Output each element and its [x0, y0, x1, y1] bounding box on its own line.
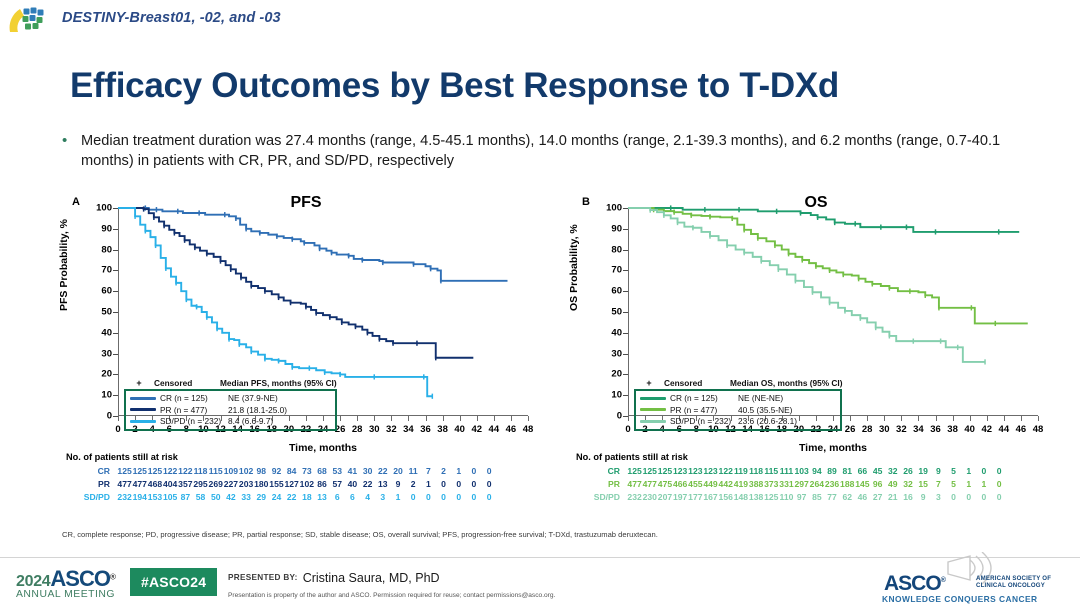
legend-group-name: CR (n = 125) — [670, 393, 738, 403]
risk-cell: 13 — [375, 479, 390, 489]
risk-cell: 16 — [900, 492, 915, 502]
x-tick-mark — [528, 416, 529, 421]
y-tick-label: 50 — [101, 307, 112, 318]
presenter-name: Cristina Saura, MD, PhD — [303, 571, 440, 585]
x-tick-label: 48 — [1033, 424, 1044, 435]
legend-row: CR (n = 125)NE (37.9-NE) — [128, 393, 331, 405]
legend-color-swatch — [130, 420, 156, 423]
society-name: AMERICAN SOCIETY OF CLINICAL ONCOLOGY — [976, 575, 1051, 590]
risk-cell: 0 — [406, 492, 421, 502]
x-tick-label: 32 — [386, 424, 397, 435]
risk-cell: 40 — [345, 479, 360, 489]
x-tick-mark — [408, 416, 409, 421]
plot-area: 0102030405060708090100024681012141618202… — [118, 208, 528, 416]
x-tick-label: 44 — [999, 424, 1010, 435]
brand-registered-mark: ® — [941, 577, 945, 584]
x-tick-mark — [901, 416, 902, 421]
y-tick-label: 100 — [96, 203, 112, 214]
risk-cell: 50 — [208, 492, 223, 502]
risk-cell: 42 — [223, 492, 238, 502]
risk-cell: 94 — [809, 466, 824, 476]
risk-row-values: 4774774754664554494424193883733312972642… — [627, 479, 1007, 489]
risk-row-label: PR — [576, 479, 627, 489]
risk-cell: 41 — [345, 466, 360, 476]
risk-cell: 32 — [885, 466, 900, 476]
y-axis-label: PFS Probability, % — [58, 219, 70, 311]
risk-cell: 1 — [390, 492, 405, 502]
risk-cell: 19 — [916, 466, 931, 476]
legend-median-value: 8.4 (6.6-9.7) — [228, 416, 273, 426]
censored-label: Censored — [664, 378, 730, 388]
legend-row: SD/PD (n = 232)8.4 (6.6-9.7) — [128, 416, 331, 428]
legend-row: SD/PD (n = 232)23.6 (20.6-28.1) — [638, 416, 836, 428]
risk-cell: 194 — [132, 492, 147, 502]
risk-cell: 264 — [809, 479, 824, 489]
legend-box: CR (n = 125)NE (NE-NE)PR (n = 477)40.5 (… — [634, 389, 842, 432]
censored-label: Censored — [154, 378, 220, 388]
header-study-label: DESTINY-Breast01, -02, and -03 — [62, 10, 281, 26]
slide-root: DESTINY-Breast01, -02, and -03 Efficacy … — [0, 0, 1080, 608]
risk-table-row: SD/PD23223020719717716715614813812511097… — [576, 490, 1007, 503]
risk-cell: 138 — [749, 492, 764, 502]
risk-cell: 125 — [147, 466, 162, 476]
risk-cell: 66 — [855, 466, 870, 476]
risk-row-values: 1251251251231231231221191181151111039489… — [627, 466, 1007, 476]
risk-cell: 109 — [223, 466, 238, 476]
legend-color-swatch — [130, 408, 156, 411]
risk-cell: 125 — [132, 466, 147, 476]
legend-color-swatch — [640, 408, 666, 411]
risk-cell: 62 — [840, 492, 855, 502]
risk-cell: 156 — [718, 492, 733, 502]
x-tick-label: 46 — [506, 424, 517, 435]
plot-area: 0102030405060708090100024681012141618202… — [628, 208, 1038, 416]
bullet-text: Median treatment duration was 27.4 month… — [81, 131, 1052, 171]
risk-cell: 118 — [749, 466, 764, 476]
x-tick-mark — [1038, 416, 1039, 421]
risk-cell: 145 — [855, 479, 870, 489]
slide-header: DESTINY-Breast01, -02, and -03 — [0, 0, 1080, 40]
risk-row-values: 2322302071971771671561481381251109785776… — [627, 492, 1007, 502]
footer-year: 2024 — [16, 573, 50, 590]
footer-annual-meeting: ANNUAL MEETING — [16, 589, 128, 600]
risk-cell: 297 — [794, 479, 809, 489]
risk-cell: 18 — [299, 492, 314, 502]
asco-fan-logo-icon — [8, 2, 56, 36]
legend-row: PR (n = 477)40.5 (35.5-NE) — [638, 404, 836, 416]
risk-cell: 46 — [855, 492, 870, 502]
y-tick-label: 0 — [617, 411, 622, 422]
x-tick-label: 42 — [471, 424, 482, 435]
risk-row-label: SD/PD — [66, 492, 117, 502]
risk-cell: 0 — [961, 492, 976, 502]
risk-cell: 86 — [314, 479, 329, 489]
risk-cell: 6 — [345, 492, 360, 502]
risk-cell: 97 — [794, 492, 809, 502]
legend-median-value: 40.5 (35.5-NE) — [738, 405, 792, 415]
risk-cell: 111 — [779, 466, 794, 476]
risk-row-label: CR — [576, 466, 627, 476]
y-tick-label: 90 — [101, 223, 112, 234]
risk-cell: 29 — [254, 492, 269, 502]
risk-cell: 102 — [299, 479, 314, 489]
risk-cell: 11 — [406, 466, 421, 476]
x-tick-mark — [918, 416, 919, 421]
risk-cell: 0 — [482, 479, 497, 489]
risk-cell: 0 — [466, 492, 481, 502]
curve-cr — [118, 208, 508, 281]
risk-cell: 102 — [239, 466, 254, 476]
risk-cell: 122 — [163, 466, 178, 476]
x-tick-mark — [357, 416, 358, 421]
x-tick-label: 0 — [625, 424, 630, 435]
risk-cell: 232 — [117, 492, 132, 502]
risk-cell: 0 — [482, 466, 497, 476]
permission-text: Presentation is property of the author a… — [228, 592, 555, 599]
risk-cell: 0 — [992, 492, 1007, 502]
risk-table-row: CR12512512512312312312211911811511110394… — [576, 464, 1007, 477]
risk-cell: 115 — [764, 466, 779, 476]
risk-cell: 92 — [269, 466, 284, 476]
bullet-list: • Median treatment duration was 27.4 mon… — [62, 131, 1052, 171]
risk-cell: 475 — [657, 479, 672, 489]
risk-cell: 122 — [718, 466, 733, 476]
x-tick-label: 30 — [369, 424, 380, 435]
y-tick-label: 80 — [101, 244, 112, 255]
legend-median-header: Median PFS, months (95% CI) — [220, 378, 337, 388]
risk-cell: 103 — [794, 466, 809, 476]
risk-row-label: CR — [66, 466, 117, 476]
x-tick-mark — [970, 416, 971, 421]
risk-cell: 0 — [482, 492, 497, 502]
y-tick-label: 10 — [101, 390, 112, 401]
y-tick-label: 90 — [611, 223, 622, 234]
x-tick-label: 38 — [437, 424, 448, 435]
risk-cell: 33 — [239, 492, 254, 502]
asco-wordmark: ASCO® — [884, 572, 945, 596]
legend-group-name: SD/PD (n = 232) — [160, 416, 228, 426]
legend-color-swatch — [640, 420, 666, 423]
risk-cell: 207 — [657, 492, 672, 502]
y-tick-label: 80 — [611, 244, 622, 255]
risk-cell: 125 — [117, 466, 132, 476]
x-tick-mark — [443, 416, 444, 421]
risk-cell: 0 — [436, 492, 451, 502]
risk-cell: 49 — [885, 479, 900, 489]
x-tick-label: 36 — [930, 424, 941, 435]
y-tick-label: 100 — [606, 203, 622, 214]
risk-cell: 0 — [436, 479, 451, 489]
risk-cell: 180 — [254, 479, 269, 489]
censored-symbol: + — [124, 378, 154, 388]
presented-by-label: PRESENTED BY: — [228, 573, 298, 582]
legend-median-value: 21.8 (18.1-25.0) — [228, 405, 287, 415]
y-tick-label: 10 — [611, 390, 622, 401]
x-tick-mark — [494, 416, 495, 421]
risk-cell: 122 — [178, 466, 193, 476]
risk-cell: 188 — [840, 479, 855, 489]
risk-cell: 77 — [824, 492, 839, 502]
risk-cell: 0 — [992, 466, 1007, 476]
legend-color-swatch — [640, 397, 666, 400]
risk-cell: 373 — [764, 479, 779, 489]
curve-cr — [628, 208, 1019, 232]
risk-cell: 232 — [627, 492, 642, 502]
risk-cell: 89 — [824, 466, 839, 476]
risk-cell: 466 — [673, 479, 688, 489]
risk-cell: 5 — [946, 479, 961, 489]
page-title: Efficacy Outcomes by Best Response to T-… — [70, 66, 1030, 106]
x-tick-label: 30 — [879, 424, 890, 435]
risk-cell: 0 — [976, 492, 991, 502]
x-tick-label: 44 — [489, 424, 500, 435]
risk-cell: 9 — [931, 466, 946, 476]
risk-cell: 153 — [147, 492, 162, 502]
x-tick-label: 32 — [896, 424, 907, 435]
risk-cell: 269 — [208, 479, 223, 489]
x-tick-label: 34 — [913, 424, 924, 435]
risk-cell: 449 — [703, 479, 718, 489]
y-tick-label: 30 — [101, 348, 112, 359]
risk-cell: 167 — [703, 492, 718, 502]
risk-cell: 1 — [421, 479, 436, 489]
x-tick-label: 26 — [845, 424, 856, 435]
risk-cell: 27 — [870, 492, 885, 502]
risk-cell: 110 — [779, 492, 794, 502]
x-tick-label: 46 — [1016, 424, 1027, 435]
x-tick-mark — [340, 416, 341, 421]
y-axis-label: OS Probability, % — [568, 224, 580, 311]
risk-cell: 468 — [147, 479, 162, 489]
x-tick-label: 28 — [862, 424, 873, 435]
x-tick-mark — [1004, 416, 1005, 421]
risk-table-pfs: No. of patients still at riskCR125125125… — [66, 452, 497, 503]
y-tick-label: 20 — [101, 369, 112, 380]
risk-cell: 9 — [390, 479, 405, 489]
x-tick-label: 38 — [947, 424, 958, 435]
risk-cell: 155 — [269, 479, 284, 489]
censored-symbol: + — [634, 378, 664, 388]
legend-median-header: Median OS, months (95% CI) — [730, 378, 842, 388]
risk-cell: 388 — [749, 479, 764, 489]
risk-row-label: SD/PD — [576, 492, 627, 502]
bullet-marker: • — [62, 131, 71, 171]
risk-table-row: PR47747747546645544944241938837333129726… — [576, 477, 1007, 490]
risk-row-values: 4774774684043572952692272031801551271028… — [117, 479, 497, 489]
risk-cell: 0 — [466, 466, 481, 476]
risk-cell: 20 — [390, 466, 405, 476]
x-tick-mark — [426, 416, 427, 421]
risk-row-values: 1251251251221221181151091029892847368534… — [117, 466, 497, 476]
risk-cell: 68 — [314, 466, 329, 476]
risk-cell: 3 — [375, 492, 390, 502]
x-tick-label: 40 — [454, 424, 465, 435]
y-tick-label: 50 — [611, 307, 622, 318]
risk-cell: 5 — [946, 466, 961, 476]
x-tick-label: 48 — [523, 424, 534, 435]
risk-cell: 123 — [703, 466, 718, 476]
asco-annual-meeting-logo: 2024ASCO® ANNUAL MEETING — [16, 566, 128, 600]
risk-cell: 2 — [436, 466, 451, 476]
risk-cell: 442 — [718, 479, 733, 489]
risk-cell: 227 — [223, 479, 238, 489]
risk-cell: 477 — [642, 479, 657, 489]
risk-row-values: 2321941531058758504233292422181366431000… — [117, 492, 497, 502]
chart-legend: +CensoredMedian PFS, months (95% CI)CR (… — [124, 378, 337, 432]
x-tick-mark — [1021, 416, 1022, 421]
y-tick-label: 70 — [611, 265, 622, 276]
y-tick-label: 60 — [101, 286, 112, 297]
legend-median-value: 23.6 (20.6-28.1) — [738, 416, 797, 426]
risk-cell: 115 — [208, 466, 223, 476]
legend-group-name: SD/PD (n = 232) — [670, 416, 738, 426]
censor-marks-sd-pd — [135, 214, 432, 399]
risk-cell: 24 — [269, 492, 284, 502]
risk-cell: 203 — [239, 479, 254, 489]
risk-cell: 1 — [961, 479, 976, 489]
censor-marks-pr — [144, 206, 436, 360]
risk-cell: 57 — [330, 479, 345, 489]
risk-cell: 58 — [193, 492, 208, 502]
risk-cell: 230 — [642, 492, 657, 502]
curve-pr — [628, 208, 1028, 323]
abbreviation-footnote: CR, complete response; PD, progressive d… — [62, 530, 1022, 539]
y-tick-label: 30 — [611, 348, 622, 359]
x-tick-label: 36 — [420, 424, 431, 435]
chart-panel-pfs: APFSPFS Probability, %010203040506070809… — [66, 196, 546, 446]
x-tick-mark — [628, 416, 629, 421]
risk-cell: 85 — [809, 492, 824, 502]
risk-cell: 0 — [992, 479, 1007, 489]
x-tick-mark — [936, 416, 937, 421]
x-tick-mark — [884, 416, 885, 421]
legend-group-name: PR (n = 477) — [160, 405, 228, 415]
curve-sd-pd — [118, 208, 432, 396]
risk-cell: 123 — [688, 466, 703, 476]
risk-cell: 477 — [117, 479, 132, 489]
risk-cell: 125 — [657, 466, 672, 476]
risk-cell: 4 — [360, 492, 375, 502]
risk-cell: 0 — [976, 466, 991, 476]
risk-cell: 331 — [779, 479, 794, 489]
risk-cell: 477 — [132, 479, 147, 489]
risk-cell: 53 — [330, 466, 345, 476]
risk-cell: 125 — [764, 492, 779, 502]
y-tick-label: 60 — [611, 286, 622, 297]
risk-cell: 295 — [193, 479, 208, 489]
risk-cell: 118 — [193, 466, 208, 476]
risk-cell: 119 — [733, 466, 748, 476]
y-tick-label: 20 — [611, 369, 622, 380]
risk-cell: 0 — [421, 492, 436, 502]
presenter-block: PRESENTED BY:Cristina Saura, MD, PhD Pre… — [228, 569, 555, 599]
y-tick-label: 0 — [107, 411, 112, 422]
x-tick-label: 42 — [981, 424, 992, 435]
risk-cell: 0 — [451, 479, 466, 489]
x-tick-mark — [477, 416, 478, 421]
risk-cell: 357 — [178, 479, 193, 489]
risk-cell: 30 — [360, 466, 375, 476]
risk-table-os: No. of patients still at riskCR125125125… — [576, 452, 1007, 503]
curve-pr — [118, 208, 473, 358]
hashtag-badge: #ASCO24 — [130, 568, 217, 596]
risk-cell: 419 — [733, 479, 748, 489]
registered-mark: ® — [110, 573, 116, 582]
chart-panel-os: BOSOS Probability, %01020304050607080901… — [576, 196, 1056, 446]
x-tick-mark — [460, 416, 461, 421]
risk-cell: 1 — [961, 466, 976, 476]
brand-tagline: KNOWLEDGE CONQUERS CANCER — [882, 594, 1038, 604]
risk-table-row: SD/PD23219415310587585042332924221813664… — [66, 490, 497, 503]
risk-cell: 87 — [178, 492, 193, 502]
risk-cell: 7 — [931, 479, 946, 489]
risk-cell: 22 — [284, 492, 299, 502]
risk-cell: 96 — [870, 479, 885, 489]
legend-median-value: NE (NE-NE) — [738, 393, 783, 403]
risk-cell: 123 — [673, 466, 688, 476]
risk-cell: 148 — [733, 492, 748, 502]
risk-cell: 45 — [870, 466, 885, 476]
risk-cell: 26 — [900, 466, 915, 476]
risk-cell: 22 — [375, 466, 390, 476]
risk-table-title: No. of patients still at risk — [576, 452, 1007, 462]
legend-group-name: CR (n = 125) — [160, 393, 228, 403]
legend-row: PR (n = 477)21.8 (18.1-25.0) — [128, 404, 331, 416]
legend-box: CR (n = 125)NE (37.9-NE)PR (n = 477)21.8… — [124, 389, 337, 432]
risk-cell: 2 — [406, 479, 421, 489]
x-tick-mark — [511, 416, 512, 421]
risk-cell: 3 — [931, 492, 946, 502]
legend-median-value: NE (37.9-NE) — [228, 393, 278, 403]
risk-cell: 32 — [900, 479, 915, 489]
x-tick-mark — [850, 416, 851, 421]
x-tick-label: 28 — [352, 424, 363, 435]
chart-legend: +CensoredMedian OS, months (95% CI)CR (n… — [634, 378, 842, 432]
risk-cell: 105 — [163, 492, 178, 502]
legend-group-name: PR (n = 477) — [670, 405, 738, 415]
x-tick-label: 34 — [403, 424, 414, 435]
risk-cell: 1 — [451, 466, 466, 476]
risk-cell: 477 — [627, 479, 642, 489]
risk-cell: 84 — [284, 466, 299, 476]
risk-cell: 15 — [916, 479, 931, 489]
risk-cell: 0 — [466, 479, 481, 489]
risk-cell: 127 — [284, 479, 299, 489]
risk-table-row: CR12512512512212211811510910298928473685… — [66, 464, 497, 477]
risk-cell: 455 — [688, 479, 703, 489]
x-tick-mark — [987, 416, 988, 421]
risk-cell: 13 — [314, 492, 329, 502]
risk-cell: 7 — [421, 466, 436, 476]
footer-asco-word: ASCO — [50, 566, 110, 591]
y-tick-label: 70 — [101, 265, 112, 276]
legend-color-swatch — [130, 397, 156, 400]
x-tick-mark — [374, 416, 375, 421]
risk-cell: 81 — [840, 466, 855, 476]
risk-cell: 9 — [916, 492, 931, 502]
risk-table-title: No. of patients still at risk — [66, 452, 497, 462]
risk-cell: 0 — [946, 492, 961, 502]
risk-cell: 177 — [688, 492, 703, 502]
risk-cell: 1 — [976, 479, 991, 489]
risk-cell: 197 — [673, 492, 688, 502]
risk-cell: 125 — [627, 466, 642, 476]
risk-row-label: PR — [66, 479, 117, 489]
x-tick-mark — [118, 416, 119, 421]
risk-cell: 22 — [360, 479, 375, 489]
risk-cell: 0 — [451, 492, 466, 502]
asco-brand-logo: ASCO® AMERICAN SOCIETY OF CLINICAL ONCOL… — [876, 560, 1066, 604]
